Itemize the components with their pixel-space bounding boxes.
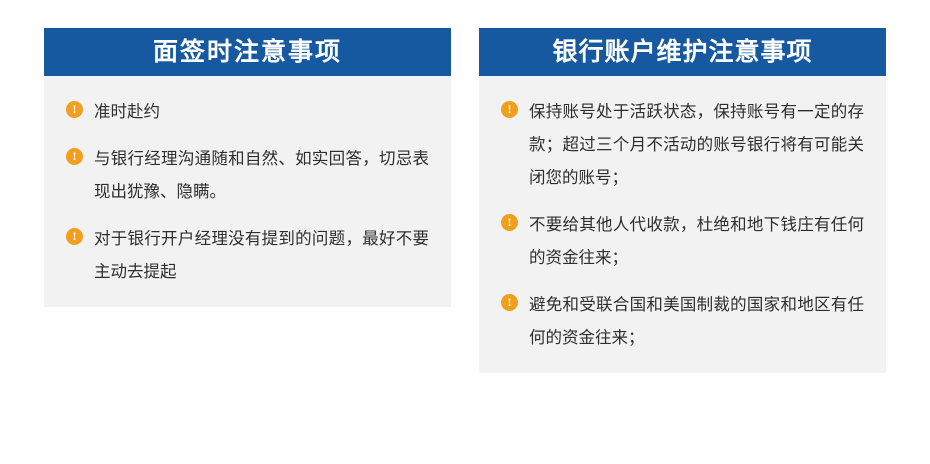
panel-body: ! 保持账号处于活跃状态，保持账号有一定的存款；超过三个月不活动的账号银行将有可… xyxy=(479,76,886,355)
list-item: ! 不要给其他人代收款，杜绝和地下钱庄有任何的资金往来； xyxy=(501,209,864,275)
list-item-text: 保持账号处于活跃状态，保持账号有一定的存款；超过三个月不活动的账号银行将有可能关… xyxy=(529,96,864,195)
list-item-text: 避免和受联合国和美国制裁的国家和地区有任何的资金往来； xyxy=(529,289,864,355)
exclamation-icon: ! xyxy=(66,148,83,165)
list-item-text: 对于银行开户经理没有提到的问题，最好不要主动去提起 xyxy=(94,223,429,289)
list-item: ! 与银行经理沟通随和自然、如实回答，切忌表现出犹豫、隐瞒。 xyxy=(66,143,429,209)
exclamation-icon: ! xyxy=(501,101,518,118)
exclamation-icon: ! xyxy=(501,294,518,311)
list-item: ! 保持账号处于活跃状态，保持账号有一定的存款；超过三个月不活动的账号银行将有可… xyxy=(501,96,864,195)
exclamation-icon: ! xyxy=(501,214,518,231)
notice-list: ! 准时赴约 ! 与银行经理沟通随和自然、如实回答，切忌表现出犹豫、隐瞒。 ! … xyxy=(66,96,429,289)
panel-interview-notice: 面签时注意事项 ! 准时赴约 ! 与银行经理沟通随和自然、如实回答，切忌表现出犹… xyxy=(44,28,451,307)
panel-account-maintenance-notice: 银行账户维护注意事项 ! 保持账号处于活跃状态，保持账号有一定的存款；超过三个月… xyxy=(479,28,886,373)
notice-board: 面签时注意事项 ! 准时赴约 ! 与银行经理沟通随和自然、如实回答，切忌表现出犹… xyxy=(0,0,930,464)
exclamation-icon: ! xyxy=(66,228,83,245)
panel-body: ! 准时赴约 ! 与银行经理沟通随和自然、如实回答，切忌表现出犹豫、隐瞒。 ! … xyxy=(44,76,451,289)
panel-title: 银行账户维护注意事项 xyxy=(479,28,886,76)
list-item-text: 准时赴约 xyxy=(94,96,429,129)
list-item-text: 不要给其他人代收款，杜绝和地下钱庄有任何的资金往来； xyxy=(529,209,864,275)
list-item: ! 对于银行开户经理没有提到的问题，最好不要主动去提起 xyxy=(66,223,429,289)
list-item-text: 与银行经理沟通随和自然、如实回答，切忌表现出犹豫、隐瞒。 xyxy=(94,143,429,209)
notice-list: ! 保持账号处于活跃状态，保持账号有一定的存款；超过三个月不活动的账号银行将有可… xyxy=(501,96,864,355)
exclamation-icon: ! xyxy=(66,101,83,118)
list-item: ! 避免和受联合国和美国制裁的国家和地区有任何的资金往来； xyxy=(501,289,864,355)
panel-title: 面签时注意事项 xyxy=(44,28,451,76)
list-item: ! 准时赴约 xyxy=(66,96,429,129)
